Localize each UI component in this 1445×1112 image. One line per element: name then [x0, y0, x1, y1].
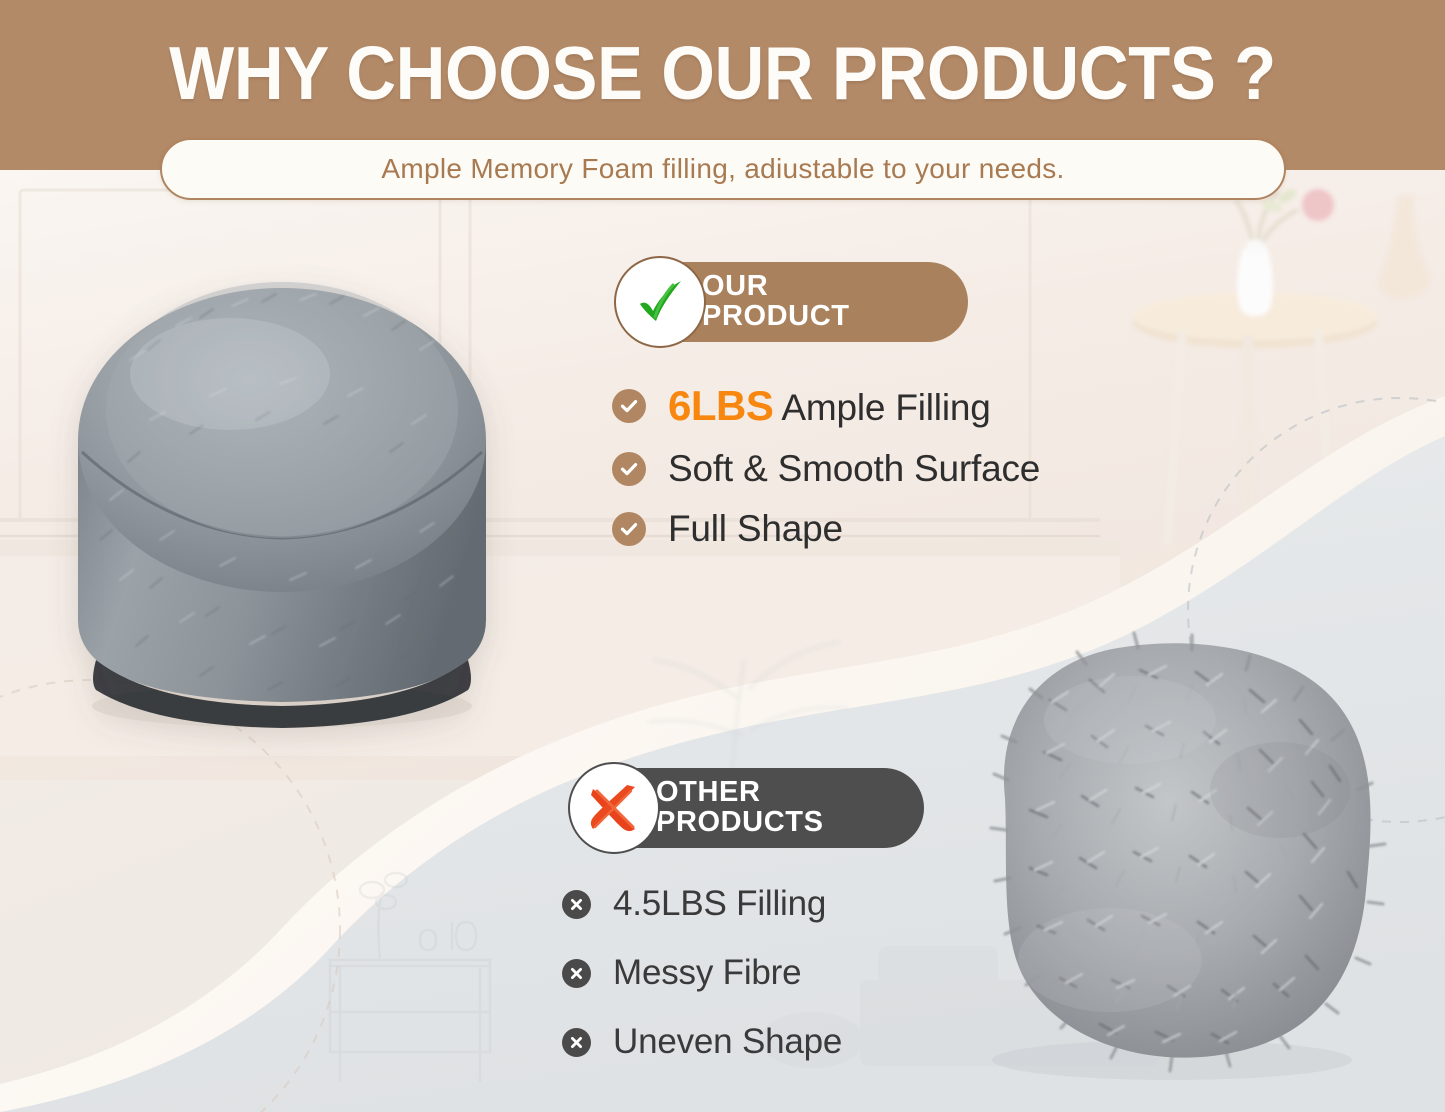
- green-check-icon: [631, 273, 689, 331]
- good-product-shape: [78, 282, 486, 728]
- our-product-badge-line1: OUR: [702, 272, 850, 302]
- feature-text: Messy Fibre: [613, 953, 801, 993]
- our-product-badge-label: OUR PRODUCT: [702, 272, 850, 331]
- list-item: 6LBS Ample Filling: [612, 382, 1132, 430]
- infographic-canvas: WHY CHOOSE OUR PRODUCTS ? Ample Memory F…: [0, 0, 1445, 1112]
- list-item: 4.5LBS Filling: [562, 884, 1082, 924]
- list-item: Uneven Shape: [562, 1022, 1082, 1062]
- other-products-badge-line2: PRODUCTS: [656, 808, 824, 838]
- page-title: WHY CHOOSE OUR PRODUCTS ?: [58, 30, 1387, 116]
- x-circle-icon: [562, 890, 591, 919]
- our-product-badge-line2: PRODUCT: [702, 302, 850, 332]
- check-glyph: [619, 459, 639, 479]
- feature-text: 6LBS Ample Filling: [668, 382, 991, 430]
- check-glyph: [619, 396, 639, 416]
- our-product-badge: OUR PRODUCT: [618, 262, 968, 342]
- check-circle-icon: [612, 389, 646, 423]
- x-glyph: [568, 1034, 585, 1051]
- feature-text: Soft & Smooth Surface: [668, 448, 1040, 490]
- feature-label: Ample Filling: [773, 387, 990, 428]
- check-circle-icon: [612, 452, 646, 486]
- other-products-badge: OTHER PRODUCTS: [572, 768, 924, 848]
- list-item: Soft & Smooth Surface: [612, 448, 1132, 490]
- list-item: Messy Fibre: [562, 953, 1082, 993]
- other-products-badge-label: OTHER PRODUCTS: [656, 778, 824, 837]
- check-circle-icon: [612, 512, 646, 546]
- x-circle-icon: [562, 959, 591, 988]
- other-products-badge-line1: OTHER: [656, 778, 824, 808]
- feature-text: Full Shape: [668, 508, 843, 550]
- list-item: Full Shape: [612, 508, 1132, 550]
- our-product-feature-list: 6LBS Ample Filling Soft & Smooth Surface…: [612, 382, 1132, 568]
- feature-text: Uneven Shape: [613, 1022, 842, 1062]
- x-glyph: [568, 965, 585, 982]
- check-glyph: [619, 519, 639, 539]
- feature-text: 4.5LBS Filling: [613, 884, 826, 924]
- subtitle-text: Ample Memory Foam filling, adiustable to…: [381, 153, 1064, 185]
- red-x-icon-wrapper: [568, 762, 660, 854]
- x-circle-icon: [562, 1028, 591, 1057]
- red-x-icon: [583, 777, 645, 839]
- x-glyph: [568, 896, 585, 913]
- other-products-feature-list: 4.5LBS Filling Messy Fibre Uneven Shape: [562, 884, 1082, 1091]
- green-check-icon-wrapper: [614, 256, 706, 348]
- feature-highlight: 6LBS: [668, 382, 773, 429]
- subtitle-pill: Ample Memory Foam filling, adiustable to…: [160, 138, 1286, 200]
